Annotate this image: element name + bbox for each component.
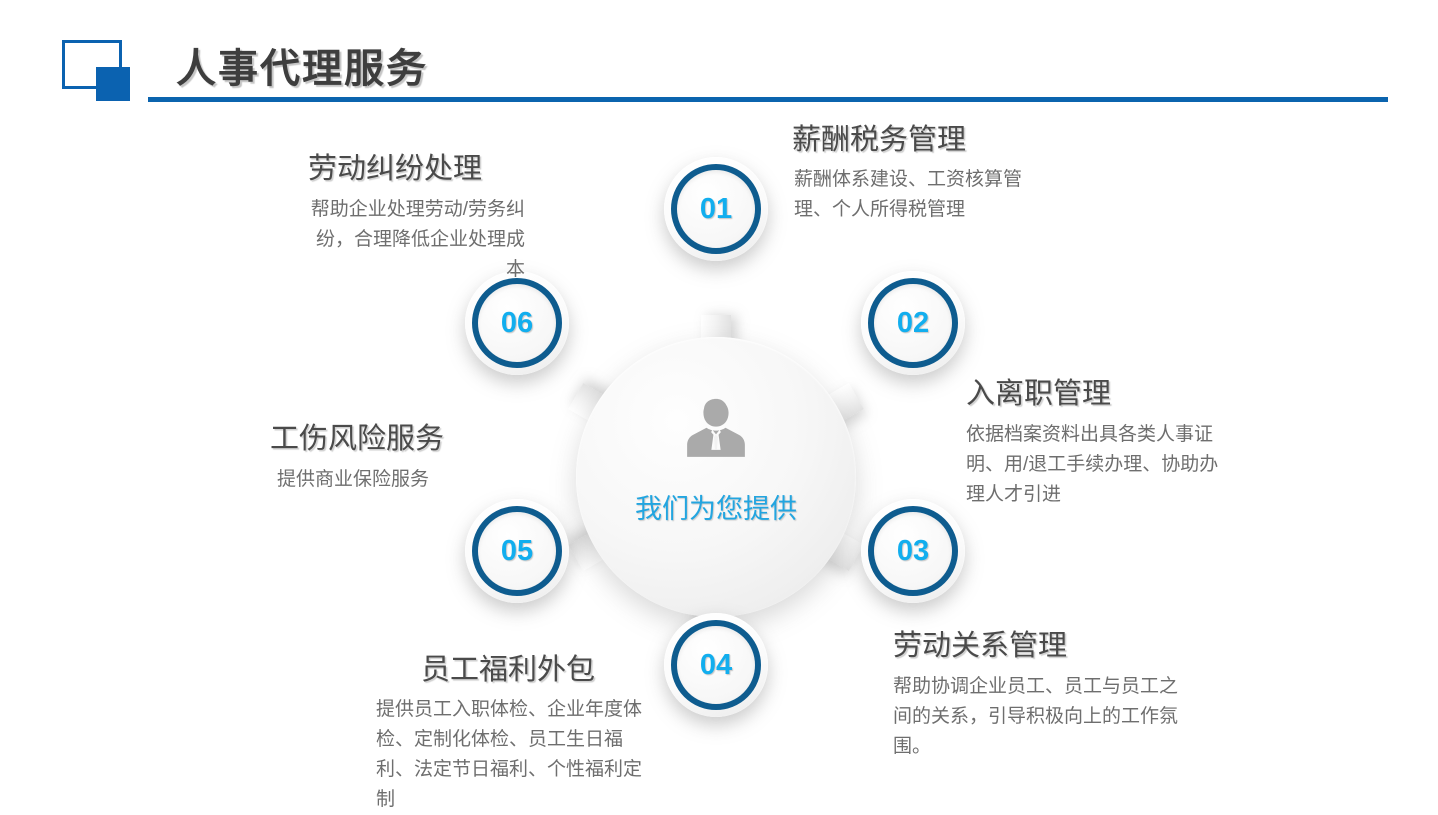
businessman-avatar-icon — [683, 395, 749, 461]
node-desc-02: 依据档案资料出具各类人事证明、用/退工手续办理、协助办理人才引进 — [966, 420, 1234, 510]
node-badge-06[interactable]: 06 — [465, 271, 569, 375]
node-desc-05: 提供商业保险服务 — [277, 465, 477, 495]
hub-and-spoke-diagram: 我们为您提供 01 02 03 04 05 06 薪酬税务管理 薪酬体系建设、工… — [0, 100, 1438, 808]
center-hub: 我们为您提供 — [576, 337, 856, 617]
badge-number: 04 — [700, 649, 732, 682]
node-title-06: 劳动纠纷处理 — [308, 145, 482, 187]
badge-number: 01 — [700, 193, 732, 226]
badge-ring: 04 — [671, 620, 761, 710]
node-desc-01: 薪酬体系建设、工资核算管理、个人所得税管理 — [794, 165, 1046, 225]
page-header: 人事代理服务 — [0, 0, 1438, 115]
badge-ring: 06 — [472, 278, 562, 368]
badge-number: 03 — [897, 535, 929, 568]
node-title-05: 工伤风险服务 — [270, 415, 444, 457]
node-desc-03: 帮助协调企业员工、员工与员工之间的关系，引导积极向上的工作氛围。 — [893, 672, 1193, 762]
badge-ring: 02 — [868, 278, 958, 368]
square-logo-icon — [60, 40, 150, 100]
node-badge-01[interactable]: 01 — [664, 157, 768, 261]
node-desc-04: 提供员工入职体检、企业年度体检、定制化体检、员工生日福利、法定节日福利、个性福利… — [376, 695, 656, 815]
badge-number: 02 — [897, 307, 929, 340]
badge-ring: 01 — [671, 164, 761, 254]
node-desc-06: 帮助企业处理劳动/劳务纠纷，合理降低企业处理成本 — [300, 195, 525, 285]
badge-ring: 05 — [472, 506, 562, 596]
node-badge-05[interactable]: 05 — [465, 499, 569, 603]
node-title-03: 劳动关系管理 — [893, 622, 1067, 664]
node-title-01: 薪酬税务管理 — [792, 116, 966, 158]
badge-ring: 03 — [868, 506, 958, 596]
page-title: 人事代理服务 — [176, 36, 428, 94]
node-badge-03[interactable]: 03 — [861, 499, 965, 603]
badge-number: 06 — [501, 307, 533, 340]
hub-label: 我们为您提供 — [576, 487, 856, 526]
node-title-02: 入离职管理 — [966, 370, 1111, 412]
node-title-04: 员工福利外包 — [345, 646, 595, 688]
node-badge-02[interactable]: 02 — [861, 271, 965, 375]
node-badge-04[interactable]: 04 — [664, 613, 768, 717]
badge-number: 05 — [501, 535, 533, 568]
logo-filled-square — [96, 67, 130, 101]
